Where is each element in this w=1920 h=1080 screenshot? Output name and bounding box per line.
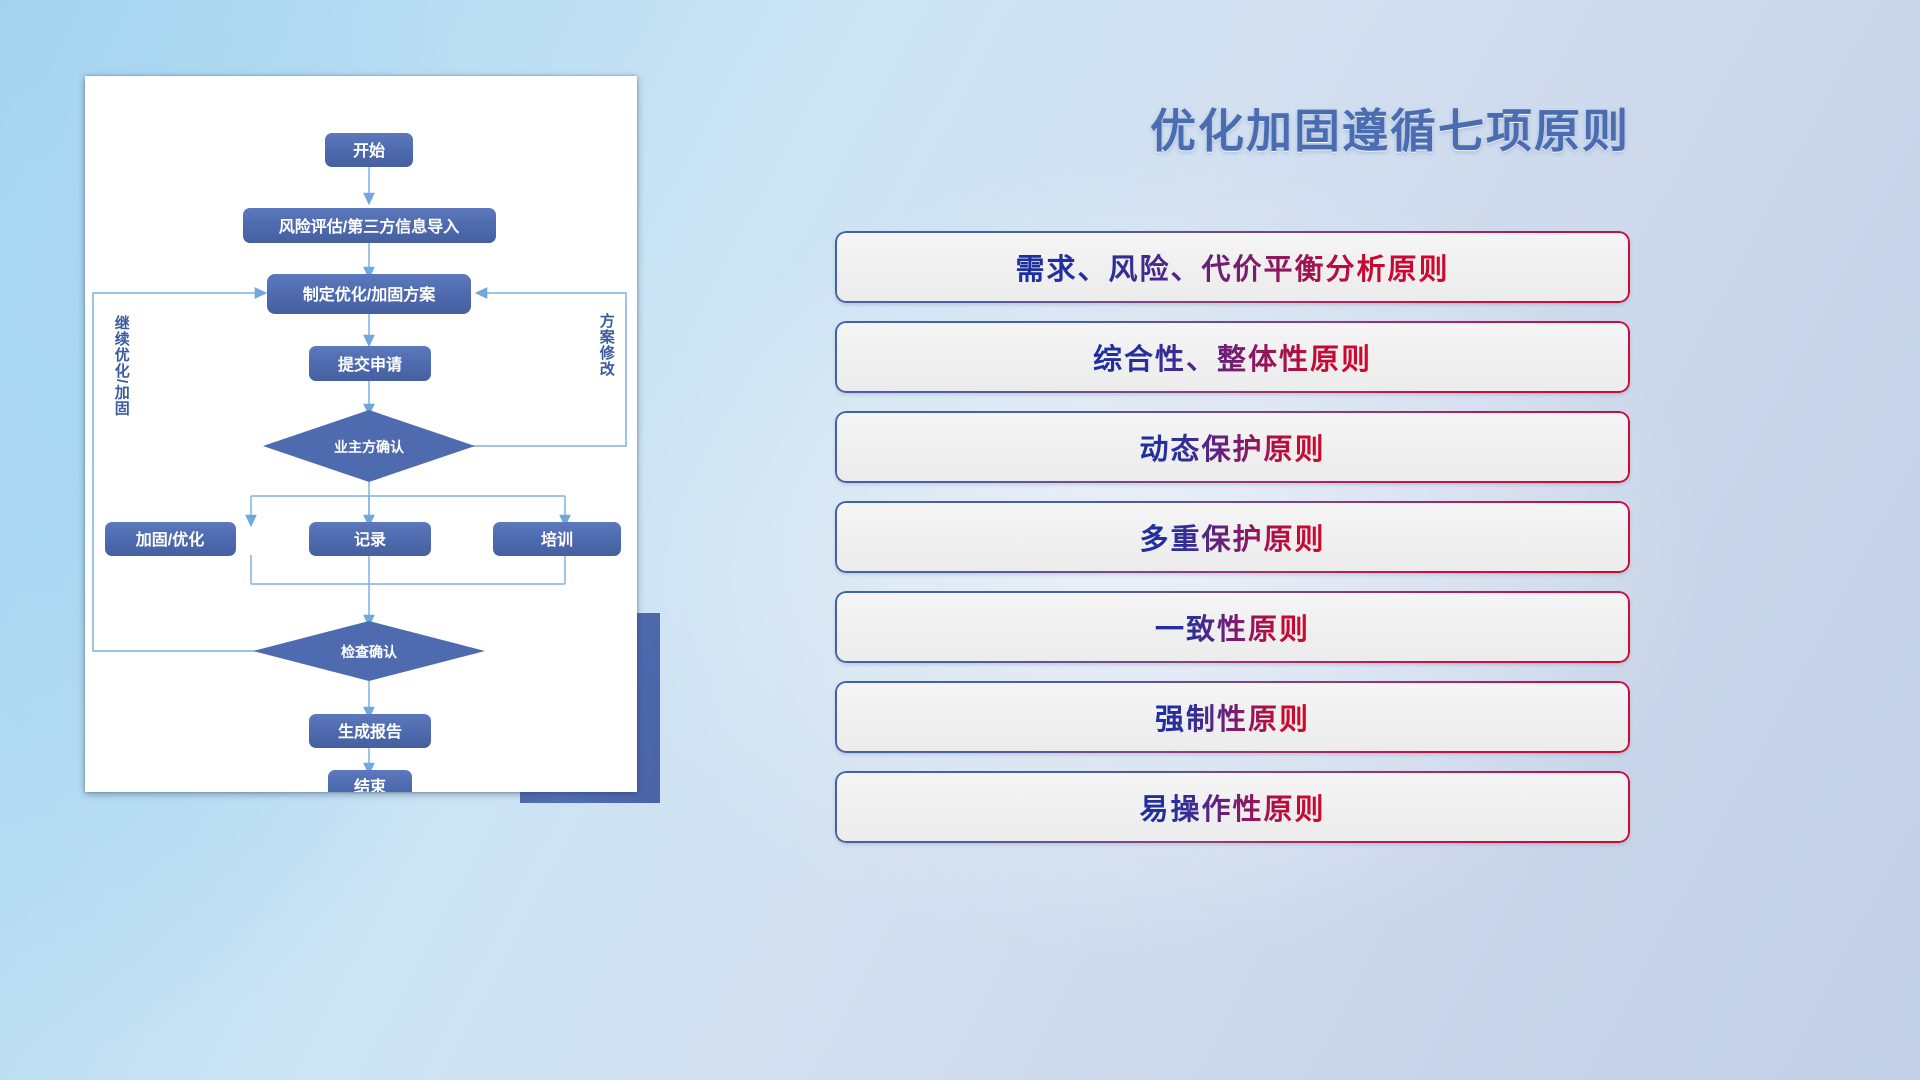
principle-label: 需求、风险、代价平衡分析原则 (1015, 246, 1449, 288)
page-title: 优化加固遵循七项原则 (860, 95, 1920, 161)
flow-node-label: 风险评估/第三方信息导入 (279, 217, 459, 236)
principle-card-2[interactable]: 综合性、整体性原则 (835, 321, 1630, 393)
flow-node-reinforce: 加固/优化 (105, 522, 236, 556)
principle-label: 多重保护原则 (1139, 516, 1325, 558)
principle-card-1[interactable]: 需求、风险、代价平衡分析原则 (835, 231, 1630, 303)
flow-node-label: 生成报告 (338, 722, 402, 741)
flow-node-label: 制定优化/加固方案 (303, 285, 436, 304)
flow-nodes: 开始 风险评估/第三方信息导入 制定优化/加固方案 提交申请 业主方确认 (105, 133, 621, 792)
flowchart-svg: 开始 风险评估/第三方信息导入 制定优化/加固方案 提交申请 业主方确认 (85, 76, 637, 792)
flow-node-label: 业主方确认 (334, 439, 405, 455)
flow-node-report: 生成报告 (309, 714, 431, 748)
principle-label: 一致性原则 (1155, 606, 1310, 648)
flow-node-label: 检查确认 (341, 644, 398, 660)
principles-panel: 优化加固遵循七项原则 需求、风险、代价平衡分析原则 综合性、整体性原则 动态保护… (860, 0, 1920, 1080)
flow-node-risk: 风险评估/第三方信息导入 (243, 208, 496, 243)
flow-node-label: 提交申请 (338, 355, 402, 374)
principle-label: 综合性、整体性原则 (1093, 336, 1372, 378)
flow-node-inspect: 检查确认 (253, 621, 485, 681)
flow-node-ownercheck: 业主方确认 (263, 410, 475, 482)
principle-list: 需求、风险、代价平衡分析原则 综合性、整体性原则 动态保护原则 多重保护原则 一… (835, 231, 1630, 861)
flow-node-label: 培训 (541, 530, 573, 549)
flow-node-start: 开始 (325, 133, 413, 167)
principle-card-6[interactable]: 强制性原则 (835, 681, 1630, 753)
principle-label: 易操作性原则 (1139, 786, 1325, 828)
principle-card-7[interactable]: 易操作性原则 (835, 771, 1630, 843)
flowchart-panel: 开始 风险评估/第三方信息导入 制定优化/加固方案 提交申请 业主方确认 (0, 0, 860, 1080)
flow-node-label: 记录 (354, 531, 386, 549)
principle-card-5[interactable]: 一致性原则 (835, 591, 1630, 663)
flow-node-label: 加固/优化 (135, 530, 204, 549)
flow-node-label: 开始 (353, 141, 385, 160)
edge-label-revise-loop: 方案修改 (598, 313, 614, 377)
flow-node-plan: 制定优化/加固方案 (267, 274, 471, 314)
flow-node-end: 结束 (328, 770, 412, 792)
flow-node-training: 培训 (493, 522, 621, 556)
principle-card-4[interactable]: 多重保护原则 (835, 501, 1630, 573)
flow-node-record: 记录 (309, 522, 431, 556)
principle-label: 动态保护原则 (1139, 426, 1325, 468)
principle-label: 强制性原则 (1155, 696, 1310, 738)
flow-node-label: 结束 (353, 777, 387, 792)
edge-label-continue-loop: 继续优化/加固 (113, 315, 129, 416)
principle-card-3[interactable]: 动态保护原则 (835, 411, 1630, 483)
flow-node-submit: 提交申请 (309, 346, 431, 381)
